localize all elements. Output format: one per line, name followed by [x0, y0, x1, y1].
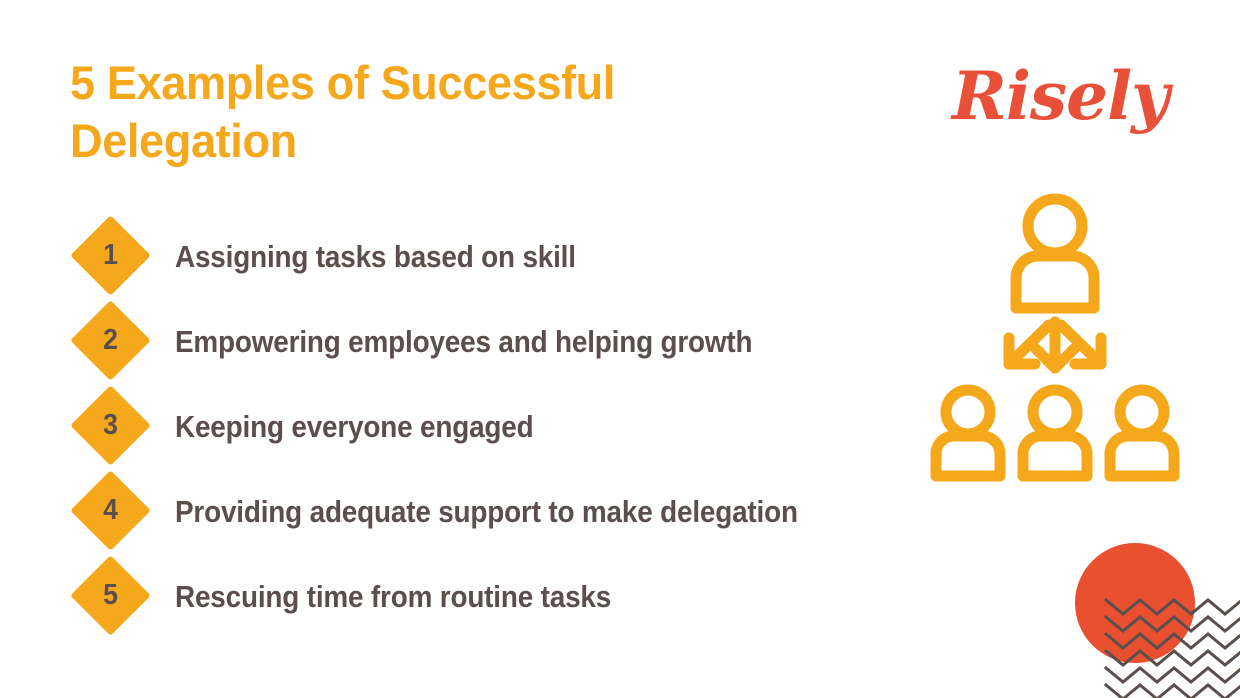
list-item: 2 Empowering employees and helping growt…	[70, 299, 1010, 384]
team-member-person-icon	[936, 390, 1000, 476]
list-item-label: Keeping everyone engaged	[175, 384, 533, 469]
list-item: 5 Rescuing time from routine tasks	[70, 554, 1010, 639]
list-item-number: 3	[84, 397, 136, 454]
list-item: 1 Assigning tasks based on skill	[70, 214, 1010, 299]
decoration-svg	[1020, 538, 1240, 698]
list-item-number: 1	[84, 227, 136, 284]
list-item-label: Empowering employees and helping growth	[175, 299, 752, 384]
leader-person-icon	[1016, 199, 1094, 308]
delegation-illustration-svg	[905, 186, 1205, 486]
list-item: 3 Keeping everyone engaged	[70, 384, 1010, 469]
page-title-line-2: Delegation	[70, 112, 684, 170]
page-title-line-1: 5 Examples of Successful	[70, 54, 684, 112]
list-item-label: Assigning tasks based on skill	[175, 214, 576, 299]
list-item-number: 4	[84, 482, 136, 539]
list-item-number: 2	[84, 312, 136, 369]
page-title: 5 Examples of Successful Delegation	[70, 54, 710, 170]
delegation-org-chart-icon	[905, 186, 1205, 486]
slide-canvas: 5 Examples of Successful Delegation Rise…	[0, 0, 1240, 698]
corner-decoration	[1020, 538, 1240, 698]
list-item-label: Providing adequate support to make deleg…	[175, 469, 798, 554]
team-member-person-icon	[1110, 390, 1174, 476]
risely-logo: Risely	[952, 44, 1182, 148]
list-item-label: Rescuing time from routine tasks	[175, 554, 611, 639]
examples-list: 1 Assigning tasks based on skill 2 Empow…	[70, 214, 1010, 639]
team-member-person-icon	[1023, 390, 1087, 476]
list-item: 4 Providing adequate support to make del…	[70, 469, 1010, 554]
list-item-number: 5	[84, 567, 136, 624]
risely-logo-text: Risely	[952, 44, 1182, 148]
